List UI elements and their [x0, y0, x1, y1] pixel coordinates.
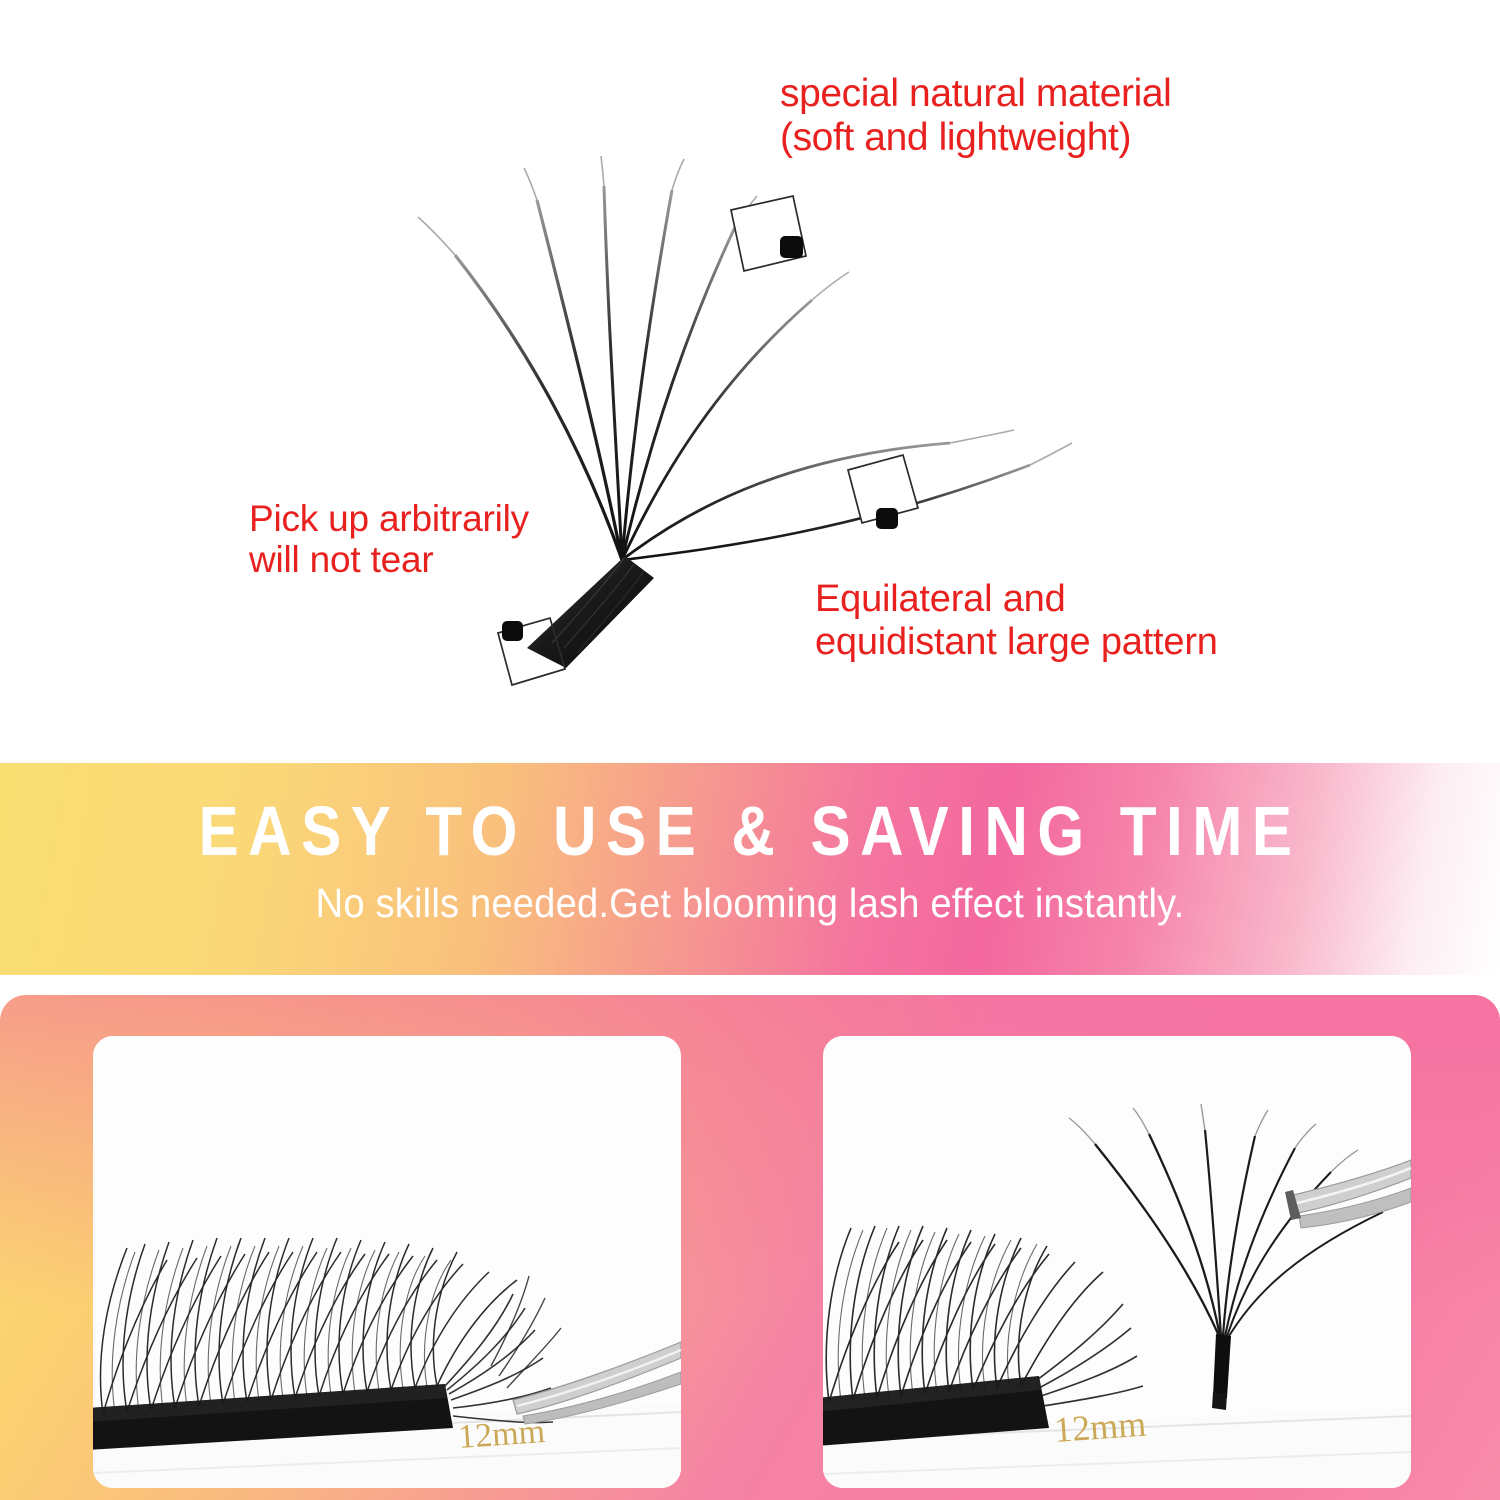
photo-card-lash-tray: 12mm — [93, 1036, 681, 1488]
tray-size-label: 12mm — [457, 1413, 546, 1456]
callout-label-material: special natural material (soft and light… — [780, 72, 1171, 159]
callout-label-pickup: Pick up arbitrarily will not tear — [249, 498, 529, 581]
lash-fan-pickup-photo: 12mm — [823, 1036, 1411, 1488]
banner-subheadline: No skills needed.Get blooming lash effec… — [53, 880, 1448, 927]
lash-tray-photo: 12mm — [93, 1036, 681, 1488]
lash-fan-diagram — [0, 0, 1500, 763]
tray-size-label: 12mm — [1053, 1404, 1148, 1450]
product-infographic: special natural material (soft and light… — [0, 0, 1500, 1500]
photo-card-lash-fan-pickup: 12mm — [823, 1036, 1411, 1488]
highlight-banner: EASY TO USE & SAVING TIME No skills need… — [0, 763, 1500, 975]
callout-label-equilateral: Equilateral and equidistant large patter… — [815, 578, 1218, 663]
lash-strand-tips — [418, 156, 1072, 465]
callout-marker-material — [731, 196, 806, 271]
lash-base-strip — [527, 556, 654, 668]
hero-section: special natural material (soft and light… — [0, 0, 1500, 763]
banner-headline: EASY TO USE & SAVING TIME — [105, 791, 1395, 871]
